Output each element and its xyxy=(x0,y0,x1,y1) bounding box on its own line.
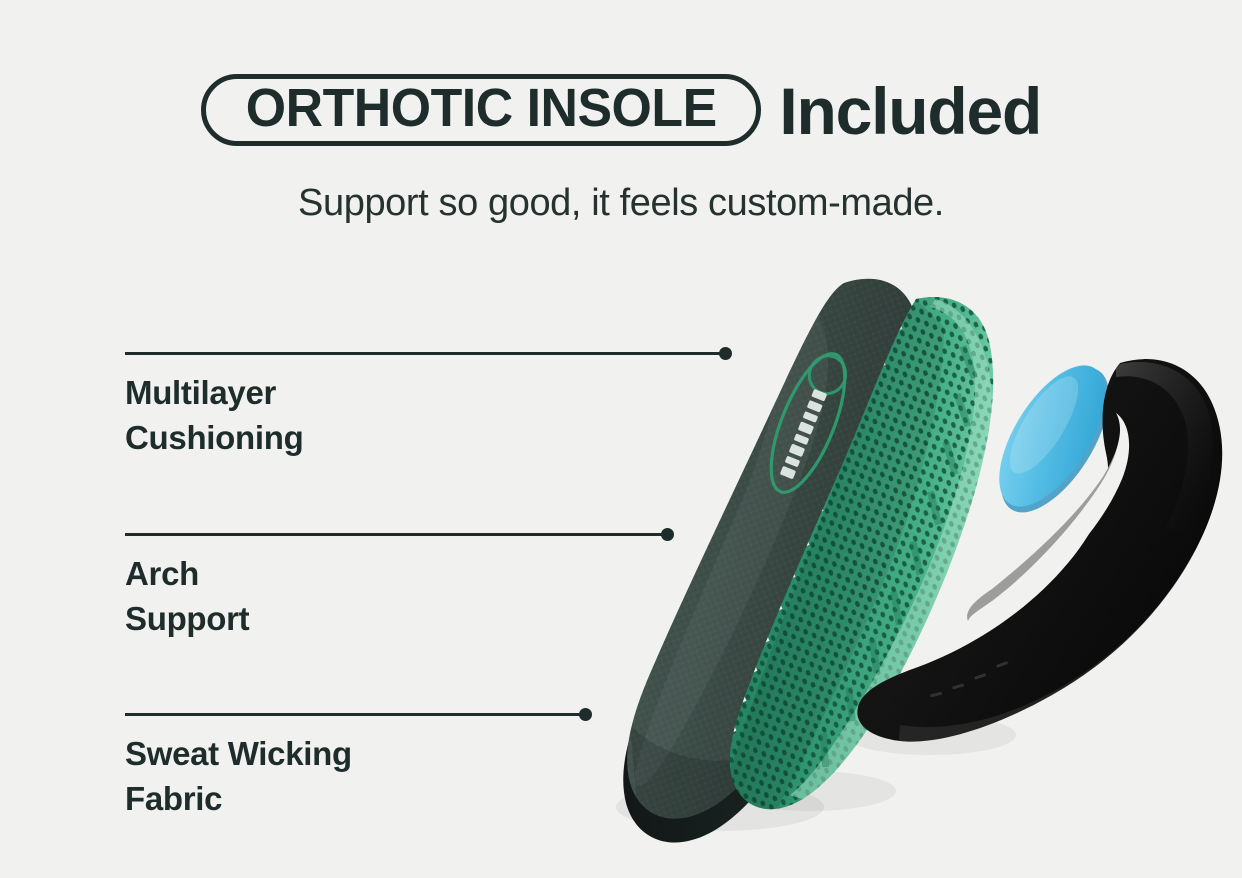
subheadline: Support so good, it feels custom-made. xyxy=(0,182,1242,225)
feature-label: Arch Support xyxy=(125,552,668,642)
product-image-insole-layers xyxy=(600,255,1242,845)
leader-line xyxy=(125,713,586,716)
feature-callout-arch-support: Arch Support xyxy=(125,533,668,642)
headline-suffix: Included xyxy=(779,78,1041,144)
leader-dot-icon xyxy=(579,708,592,721)
orthotic-insole-infographic: ORTHOTIC INSOLE Included Support so good… xyxy=(0,0,1242,878)
feature-callout-sweat-wicking-fabric: Sweat Wicking Fabric xyxy=(125,713,586,822)
leader-line xyxy=(125,533,668,536)
headline-row: ORTHOTIC INSOLE Included xyxy=(0,74,1242,146)
orthotic-insole-badge: ORTHOTIC INSOLE xyxy=(201,74,762,146)
badge-label: ORTHOTIC INSOLE xyxy=(246,81,717,135)
feature-label: Sweat Wicking Fabric xyxy=(125,732,586,822)
